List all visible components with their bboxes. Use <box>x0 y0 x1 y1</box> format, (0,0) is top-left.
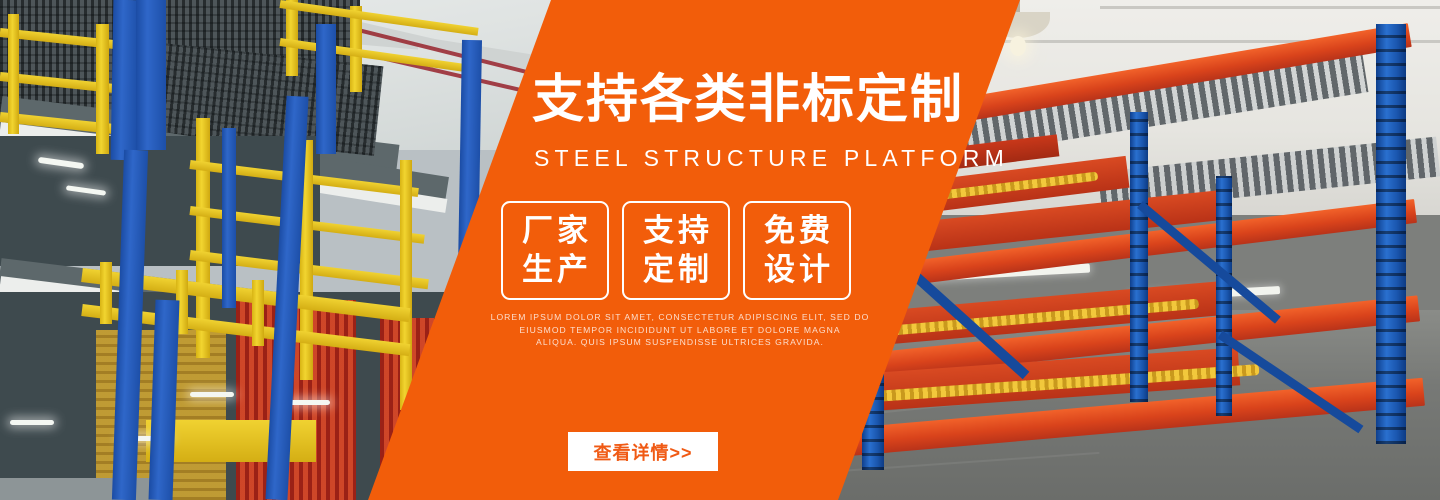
promo-banner: 支持各类非标定制 STEEL STRUCTURE PLATFORM 厂家 生产 … <box>0 0 1440 500</box>
badge-line-1: 支持 <box>639 213 713 250</box>
badge-line-1: 厂家 <box>518 213 592 250</box>
description-line: ALIQUA. QUIS IPSUM SUSPENDISSE ULTRICES … <box>470 336 890 349</box>
badge-line-1: 免费 <box>760 213 834 250</box>
view-details-label: 查看详情>> <box>593 439 692 465</box>
description-line: EIUSMOD TEMPOR INCIDIDUNT UT LABORE ET D… <box>470 324 890 337</box>
badge-line-2: 定制 <box>639 252 713 289</box>
view-details-button[interactable]: 查看详情>> <box>568 432 718 471</box>
banner-description: LOREM IPSUM DOLOR SIT AMET, CONSECTETUR … <box>470 311 890 349</box>
badge-free-design: 免费 设计 <box>743 201 851 300</box>
badge-line-2: 设计 <box>760 252 834 289</box>
badge-manufacturer: 厂家 生产 <box>501 201 609 300</box>
feature-badges: 厂家 生产 支持 定制 免费 设计 <box>501 201 851 300</box>
badge-line-2: 生产 <box>518 252 592 289</box>
banner-content: 支持各类非标定制 STEEL STRUCTURE PLATFORM 厂家 生产 … <box>0 0 1440 500</box>
banner-title: 支持各类非标定制 <box>532 74 992 126</box>
description-line: LOREM IPSUM DOLOR SIT AMET, CONSECTETUR … <box>470 311 890 324</box>
badge-customization: 支持 定制 <box>622 201 730 300</box>
banner-subtitle: STEEL STRUCTURE PLATFORM <box>534 145 934 172</box>
